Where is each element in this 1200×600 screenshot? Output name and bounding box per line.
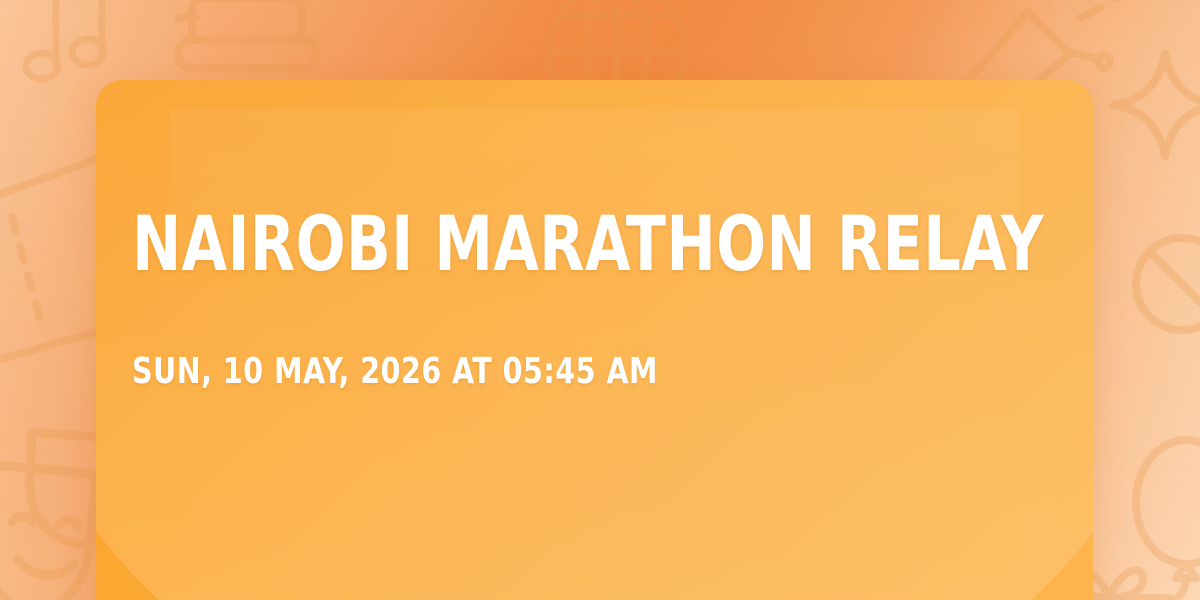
- event-title: Nairobi Marathon Relay: [132, 206, 1044, 282]
- event-card-content: Nairobi Marathon Relay Sun, 10 May, 2026…: [132, 80, 1057, 600]
- sparkle-icon: [1100, 40, 1200, 170]
- event-card: Nairobi Marathon Relay Sun, 10 May, 2026…: [96, 80, 1093, 600]
- microphone-icon: [1110, 212, 1200, 402]
- event-date-time: Sun, 10 May, 2026 at 05:45 AM: [132, 354, 658, 390]
- event-banner: Nairobi Marathon Relay Sun, 10 May, 2026…: [0, 0, 1200, 600]
